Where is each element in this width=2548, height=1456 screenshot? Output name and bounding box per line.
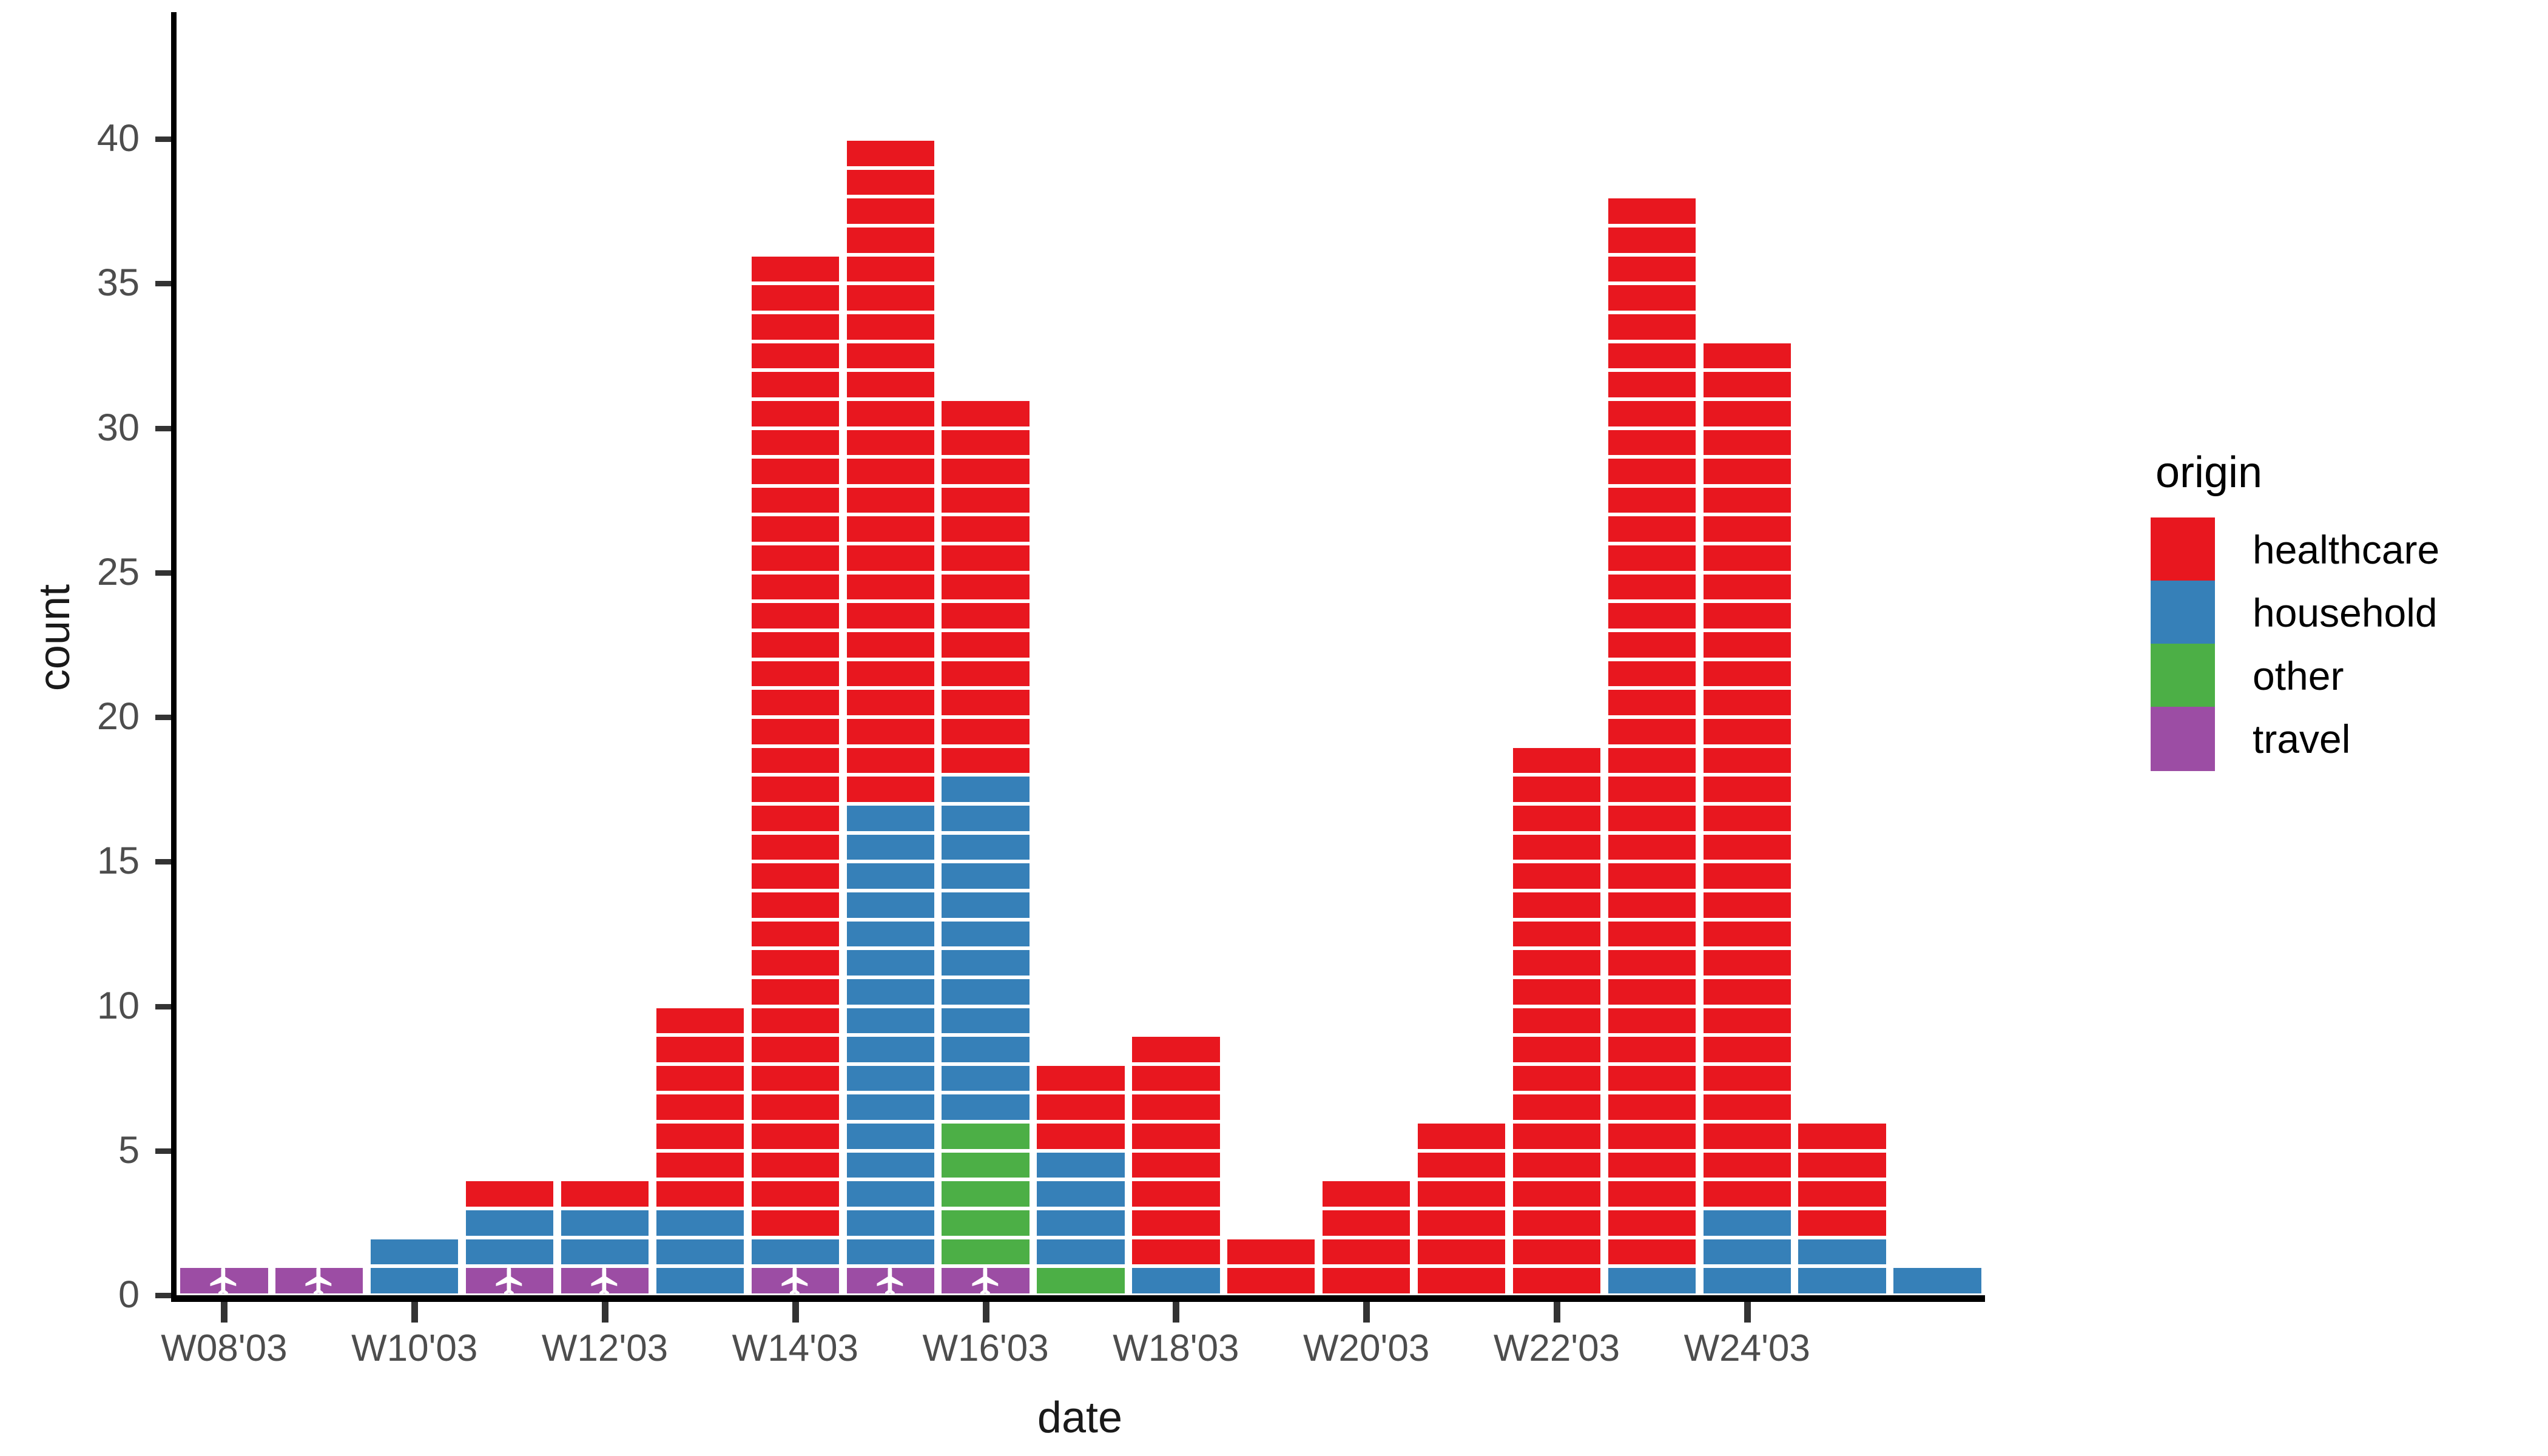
bar-segment-healthcare[interactable] <box>942 661 1029 687</box>
bar-segment-healthcare[interactable] <box>1608 950 1696 976</box>
bar-stack[interactable] <box>1037 1064 1124 1295</box>
bar-segment-healthcare[interactable] <box>752 516 839 542</box>
bar-segment-healthcare[interactable] <box>752 575 839 600</box>
x-tick-label: W24'03 <box>1626 1330 1869 1367</box>
bar-segment-healthcare[interactable] <box>752 459 839 484</box>
bar-segment-household[interactable] <box>942 777 1029 802</box>
bar-segment-healthcare[interactable] <box>752 922 839 947</box>
bar-segment-household[interactable] <box>1037 1239 1124 1265</box>
bar-segment-healthcare[interactable] <box>1323 1181 1410 1207</box>
bar-segment-healthcare[interactable] <box>1418 1153 1505 1178</box>
bar-stack[interactable] <box>1608 197 1696 1295</box>
bar-segment-healthcare[interactable] <box>1704 835 1791 860</box>
bar-segment-healthcare[interactable] <box>847 227 934 253</box>
bar-segment-healthcare[interactable] <box>1704 690 1791 715</box>
bar-segment-healthcare[interactable] <box>752 1124 839 1149</box>
bar-segment-healthcare[interactable] <box>1704 1094 1791 1120</box>
bar-segment-healthcare[interactable] <box>1513 1181 1600 1207</box>
bar-segment-other[interactable] <box>1037 1268 1124 1293</box>
bar-stack[interactable] <box>656 1006 744 1296</box>
bar-segment-healthcare[interactable] <box>1513 1037 1600 1062</box>
bar-segment-healthcare[interactable] <box>1132 1066 1219 1091</box>
bar-segment-household[interactable] <box>847 1181 934 1207</box>
bar-segment-healthcare[interactable] <box>847 632 934 658</box>
bar-segment-healthcare[interactable] <box>942 430 1029 456</box>
bar-segment-healthcare[interactable] <box>1418 1181 1505 1207</box>
bar-segment-healthcare[interactable] <box>1513 1094 1600 1120</box>
bar-segment-healthcare[interactable] <box>656 1124 744 1149</box>
bar-segment-healthcare[interactable] <box>1132 1124 1219 1149</box>
legend-title: origin <box>2151 449 2539 496</box>
bar-segment-healthcare[interactable] <box>752 777 839 802</box>
bar-segment-healthcare[interactable] <box>942 748 1029 773</box>
bar-segment-healthcare[interactable] <box>1227 1268 1315 1293</box>
bar-segment-healthcare[interactable] <box>1608 979 1696 1005</box>
bar-stack[interactable] <box>847 139 934 1295</box>
bar-segment-healthcare[interactable] <box>847 661 934 687</box>
x-axis-title: date <box>898 1393 1262 1443</box>
bar-segment-healthcare[interactable] <box>1513 863 1600 889</box>
bar-segment-household[interactable] <box>371 1268 458 1293</box>
bar-segment-healthcare[interactable] <box>1418 1268 1505 1293</box>
bar-segment-healthcare[interactable] <box>1608 863 1696 889</box>
bar-segment-household[interactable] <box>942 979 1029 1005</box>
bar-segment-healthcare[interactable] <box>1608 257 1696 282</box>
airplane-icon <box>969 1264 1002 1297</box>
bar-segment-healthcare[interactable] <box>1608 430 1696 456</box>
bar-segment-healthcare[interactable] <box>1608 892 1696 918</box>
bar-stack[interactable] <box>561 1179 649 1295</box>
bar-segment-healthcare[interactable] <box>1608 1124 1696 1149</box>
bar-segment-healthcare[interactable] <box>847 719 934 744</box>
bar-segment-household[interactable] <box>1704 1268 1791 1293</box>
bar-segment-healthcare[interactable] <box>847 777 934 802</box>
bar-segment-household[interactable] <box>561 1210 649 1236</box>
bar-segment-household[interactable] <box>847 1210 934 1236</box>
bar-segment-healthcare[interactable] <box>942 603 1029 629</box>
bar-segment-healthcare[interactable] <box>1608 1066 1696 1091</box>
bar-segment-household[interactable] <box>847 835 934 860</box>
bar-segment-healthcare[interactable] <box>752 661 839 687</box>
bar-segment-healthcare[interactable] <box>752 372 839 397</box>
bar-segment-healthcare[interactable] <box>1704 343 1791 369</box>
bar-segment-healthcare[interactable] <box>1608 1008 1696 1034</box>
bar-segment-household[interactable] <box>847 922 934 947</box>
bar-segment-healthcare[interactable] <box>1513 1153 1600 1178</box>
bar-segment-healthcare[interactable] <box>1513 806 1600 831</box>
bar-stack[interactable] <box>752 255 839 1295</box>
bar-segment-healthcare[interactable] <box>1037 1066 1124 1091</box>
bar-segment-travel[interactable] <box>275 1268 363 1293</box>
legend-item-other[interactable]: other <box>2151 644 2539 707</box>
bar-segment-healthcare[interactable] <box>752 603 839 629</box>
bar-segment-household[interactable] <box>1132 1268 1219 1293</box>
bar-segment-household[interactable] <box>656 1239 744 1265</box>
bar-stack[interactable] <box>275 1266 363 1295</box>
bar-segment-healthcare[interactable] <box>1513 835 1600 860</box>
bar-segment-healthcare[interactable] <box>1704 372 1791 397</box>
bar-segment-healthcare[interactable] <box>1513 1124 1600 1149</box>
bar-segment-household[interactable] <box>942 835 1029 860</box>
bar-segment-household[interactable] <box>942 1008 1029 1034</box>
bar-segment-healthcare[interactable] <box>1704 1181 1791 1207</box>
bar-segment-healthcare[interactable] <box>752 1153 839 1178</box>
bar-segment-healthcare[interactable] <box>1513 777 1600 802</box>
bar-segment-healthcare[interactable] <box>1513 950 1600 976</box>
bar-segment-household[interactable] <box>847 1153 934 1178</box>
legend-label: other <box>2253 656 2344 696</box>
bar-stack[interactable] <box>1798 1122 1886 1295</box>
bar-stack[interactable] <box>371 1238 458 1295</box>
bar-segment-healthcare[interactable] <box>847 748 934 773</box>
x-tick-mark <box>602 1302 608 1323</box>
bar-segment-household[interactable] <box>1608 1268 1696 1293</box>
bar-segment-healthcare[interactable] <box>752 719 839 744</box>
airplane-icon <box>874 1264 907 1297</box>
x-tick-mark <box>1173 1302 1179 1323</box>
bar-segment-healthcare[interactable] <box>1704 603 1791 629</box>
bar-segment-healthcare[interactable] <box>1798 1210 1886 1236</box>
bar-segment-healthcare[interactable] <box>1704 1008 1791 1034</box>
bar-stack[interactable] <box>1323 1179 1410 1295</box>
bar-segment-household[interactable] <box>1704 1210 1791 1236</box>
bar-segment-household[interactable] <box>1037 1210 1124 1236</box>
bar-segment-healthcare[interactable] <box>1132 1037 1219 1062</box>
bar-segment-household[interactable] <box>1798 1268 1886 1293</box>
bar-segment-household[interactable] <box>942 950 1029 976</box>
bar-segment-healthcare[interactable] <box>752 285 839 311</box>
bar-segment-healthcare[interactable] <box>752 488 839 513</box>
bar-segment-healthcare[interactable] <box>1704 545 1791 571</box>
bar-segment-travel[interactable] <box>942 1268 1029 1293</box>
bar-segment-healthcare[interactable] <box>1418 1239 1505 1265</box>
bar-segment-healthcare[interactable] <box>656 1181 744 1207</box>
bar-segment-healthcare[interactable] <box>1608 1153 1696 1178</box>
bar-segment-healthcare[interactable] <box>466 1181 553 1207</box>
bar-segment-household[interactable] <box>847 1239 934 1265</box>
bar-segment-healthcare[interactable] <box>847 459 934 484</box>
bar-segment-household[interactable] <box>847 1037 934 1062</box>
bar-segment-healthcare[interactable] <box>1132 1181 1219 1207</box>
bar-segment-healthcare[interactable] <box>1704 979 1791 1005</box>
bar-segment-healthcare[interactable] <box>847 141 934 166</box>
bar-segment-healthcare[interactable] <box>847 257 934 282</box>
bar-segment-healthcare[interactable] <box>1608 661 1696 687</box>
airplane-icon <box>303 1264 335 1297</box>
bar-segment-household[interactable] <box>847 1008 934 1034</box>
bar-segment-healthcare[interactable] <box>752 690 839 715</box>
bar-segment-healthcare[interactable] <box>752 1094 839 1120</box>
bar-segment-healthcare[interactable] <box>752 950 839 976</box>
bar-segment-healthcare[interactable] <box>942 516 1029 542</box>
bar-segment-healthcare[interactable] <box>1608 372 1696 397</box>
bar-segment-healthcare[interactable] <box>656 1153 744 1178</box>
bar-segment-healthcare[interactable] <box>656 1037 744 1062</box>
bar-segment-healthcare[interactable] <box>1704 892 1791 918</box>
x-tick-mark <box>411 1302 418 1323</box>
bar-segment-healthcare[interactable] <box>847 545 934 571</box>
bar-segment-healthcare[interactable] <box>847 343 934 369</box>
bar-segment-healthcare[interactable] <box>847 198 934 224</box>
bar-segment-healthcare[interactable] <box>1704 430 1791 456</box>
bar-segment-healthcare[interactable] <box>752 314 839 340</box>
bar-segment-healthcare[interactable] <box>1513 1268 1600 1293</box>
bar-segment-healthcare[interactable] <box>1513 1210 1600 1236</box>
bar-segment-household[interactable] <box>1893 1268 1981 1293</box>
bar-segment-healthcare[interactable] <box>1513 979 1600 1005</box>
bar-segment-healthcare[interactable] <box>1608 227 1696 253</box>
bar-segment-healthcare[interactable] <box>942 575 1029 600</box>
bar-segment-healthcare[interactable] <box>1608 777 1696 802</box>
bar-segment-healthcare[interactable] <box>1418 1210 1505 1236</box>
x-tick-mark <box>792 1302 799 1323</box>
bar-segment-healthcare[interactable] <box>1513 892 1600 918</box>
bar-segment-healthcare[interactable] <box>942 459 1029 484</box>
bar-segment-healthcare[interactable] <box>1608 516 1696 542</box>
bar-segment-travel[interactable] <box>847 1268 934 1293</box>
bar-segment-other[interactable] <box>942 1210 1029 1236</box>
bar-segment-healthcare[interactable] <box>847 516 934 542</box>
bar-segment-healthcare[interactable] <box>1132 1210 1219 1236</box>
bar-segment-healthcare[interactable] <box>942 719 1029 744</box>
bar-segment-healthcare[interactable] <box>752 1066 839 1091</box>
bar-segment-healthcare[interactable] <box>1608 459 1696 484</box>
bar-segment-household[interactable] <box>752 1239 839 1265</box>
bar-segment-healthcare[interactable] <box>1704 863 1791 889</box>
bar-segment-healthcare[interactable] <box>847 575 934 600</box>
bar-segment-household[interactable] <box>656 1268 744 1293</box>
bar-segment-healthcare[interactable] <box>1798 1124 1886 1149</box>
bar-segment-household[interactable] <box>847 1124 934 1149</box>
bar-segment-household[interactable] <box>942 892 1029 918</box>
bar-segment-healthcare[interactable] <box>1513 748 1600 773</box>
bar-segment-healthcare[interactable] <box>1608 719 1696 744</box>
bar-segment-healthcare[interactable] <box>1608 1037 1696 1062</box>
bar-segment-healthcare[interactable] <box>752 401 839 426</box>
x-axis-line <box>171 1295 1985 1302</box>
bar-stack[interactable] <box>1418 1122 1505 1295</box>
bar-segment-household[interactable] <box>942 1066 1029 1091</box>
bar-segment-healthcare[interactable] <box>847 170 934 195</box>
chart-canvas: 0510152025303540 count W08'03W10'03W12'0… <box>0 0 2548 1456</box>
bar-segment-healthcare[interactable] <box>942 690 1029 715</box>
bar-segment-healthcare[interactable] <box>752 979 839 1005</box>
bar-segment-household[interactable] <box>847 979 934 1005</box>
bar-segment-healthcare[interactable] <box>752 343 839 369</box>
bar-segment-healthcare[interactable] <box>752 632 839 658</box>
bar-segment-household[interactable] <box>942 922 1029 947</box>
bar-segment-healthcare[interactable] <box>656 1008 744 1034</box>
bar-segment-healthcare[interactable] <box>847 603 934 629</box>
bar-segment-household[interactable] <box>847 863 934 889</box>
legend-label: travel <box>2253 719 2350 759</box>
bar-segment-healthcare[interactable] <box>1608 285 1696 311</box>
legend-item-travel[interactable]: travel <box>2151 707 2539 770</box>
bar-segment-healthcare[interactable] <box>1798 1153 1886 1178</box>
bar-segment-healthcare[interactable] <box>1704 1124 1791 1149</box>
bar-segment-travel[interactable] <box>180 1268 268 1293</box>
bar-segment-healthcare[interactable] <box>1608 575 1696 600</box>
bar-segment-household[interactable] <box>847 1066 934 1091</box>
bar-segment-healthcare[interactable] <box>1704 401 1791 426</box>
bar-segment-household[interactable] <box>942 806 1029 831</box>
x-tick-mark <box>221 1302 227 1323</box>
bar-stack[interactable] <box>1132 1035 1219 1295</box>
bar-segment-healthcare[interactable] <box>752 748 839 773</box>
bar-segment-healthcare[interactable] <box>1704 777 1791 802</box>
bar-segment-healthcare[interactable] <box>752 545 839 571</box>
bar-segment-healthcare[interactable] <box>1704 459 1791 484</box>
bar-segment-healthcare[interactable] <box>656 1066 744 1091</box>
bar-segment-household[interactable] <box>656 1210 744 1236</box>
bar-stack[interactable] <box>180 1266 268 1295</box>
bar-segment-healthcare[interactable] <box>1704 1153 1791 1178</box>
bar-segment-healthcare[interactable] <box>1608 314 1696 340</box>
bar-segment-other[interactable] <box>942 1124 1029 1149</box>
bar-segment-healthcare[interactable] <box>1608 806 1696 831</box>
bar-segment-healthcare[interactable] <box>1513 1008 1600 1034</box>
bar-segment-healthcare[interactable] <box>752 1181 839 1207</box>
bar-segment-household[interactable] <box>1037 1153 1124 1178</box>
bar-segment-healthcare[interactable] <box>752 1037 839 1062</box>
bar-segment-healthcare[interactable] <box>1704 950 1791 976</box>
legend-item-household[interactable]: household <box>2151 581 2539 644</box>
bar-segment-healthcare[interactable] <box>561 1181 649 1207</box>
bar-segment-healthcare[interactable] <box>1608 1181 1696 1207</box>
bar-segment-healthcare[interactable] <box>752 430 839 456</box>
bar-segment-other[interactable] <box>942 1153 1029 1178</box>
bar-segment-healthcare[interactable] <box>1132 1094 1219 1120</box>
bar-segment-healthcare[interactable] <box>1798 1181 1886 1207</box>
bar-segment-healthcare[interactable] <box>1608 632 1696 658</box>
bar-segment-healthcare[interactable] <box>1132 1239 1219 1265</box>
bar-segment-healthcare[interactable] <box>1037 1124 1124 1149</box>
bar-stack[interactable] <box>1513 746 1600 1295</box>
bar-segment-travel[interactable] <box>466 1268 553 1293</box>
bar-segment-healthcare[interactable] <box>752 1008 839 1034</box>
bar-segment-healthcare[interactable] <box>942 401 1029 426</box>
bar-segment-healthcare[interactable] <box>1608 198 1696 224</box>
bar-segment-travel[interactable] <box>752 1268 839 1293</box>
bar-segment-healthcare[interactable] <box>847 488 934 513</box>
bar-segment-healthcare[interactable] <box>1608 603 1696 629</box>
bar-stack[interactable] <box>466 1179 553 1295</box>
x-tick-mark <box>1744 1302 1751 1323</box>
bar-segment-healthcare[interactable] <box>1608 1239 1696 1265</box>
bar-segment-healthcare[interactable] <box>847 690 934 715</box>
bar-segment-household[interactable] <box>847 950 934 976</box>
bar-segment-other[interactable] <box>942 1239 1029 1265</box>
legend-item-healthcare[interactable]: healthcare <box>2151 518 2539 581</box>
bar-segment-household[interactable] <box>1704 1239 1791 1265</box>
bar-segment-healthcare[interactable] <box>752 806 839 831</box>
bar-segment-household[interactable] <box>371 1239 458 1265</box>
bar-segment-healthcare[interactable] <box>1704 488 1791 513</box>
bar-segment-healthcare[interactable] <box>1227 1239 1315 1265</box>
bar-segment-healthcare[interactable] <box>1323 1268 1410 1293</box>
bar-segment-healthcare[interactable] <box>1704 719 1791 744</box>
x-tick-mark <box>1363 1302 1370 1323</box>
bar-segment-household[interactable] <box>1798 1239 1886 1265</box>
bar-segment-healthcare[interactable] <box>1704 661 1791 687</box>
bar-segment-healthcare[interactable] <box>1132 1153 1219 1178</box>
bar-segment-healthcare[interactable] <box>1704 748 1791 773</box>
bar-segment-healthcare[interactable] <box>1608 748 1696 773</box>
bar-segment-healthcare[interactable] <box>942 488 1029 513</box>
bar-segment-healthcare[interactable] <box>1608 343 1696 369</box>
bar-segment-healthcare[interactable] <box>1704 806 1791 831</box>
bar-segment-household[interactable] <box>561 1239 649 1265</box>
bar-segment-healthcare[interactable] <box>847 372 934 397</box>
bar-segment-other[interactable] <box>942 1181 1029 1207</box>
bar-segment-healthcare[interactable] <box>1704 575 1791 600</box>
bar-segment-healthcare[interactable] <box>847 285 934 311</box>
bar-segment-healthcare[interactable] <box>847 401 934 426</box>
bar-segment-healthcare[interactable] <box>1323 1239 1410 1265</box>
bar-segment-household[interactable] <box>466 1210 553 1236</box>
legend-swatch-other <box>2151 644 2215 708</box>
bar-segment-household[interactable] <box>847 1094 934 1120</box>
bar-segment-healthcare[interactable] <box>942 632 1029 658</box>
bar-segment-household[interactable] <box>942 1037 1029 1062</box>
bar-segment-household[interactable] <box>847 892 934 918</box>
bar-segment-healthcare[interactable] <box>1608 922 1696 947</box>
bar-segment-household[interactable] <box>942 1094 1029 1120</box>
bar-segment-healthcare[interactable] <box>1704 632 1791 658</box>
bar-segment-household[interactable] <box>847 806 934 831</box>
bar-segment-healthcare[interactable] <box>752 1210 839 1236</box>
legend-label: household <box>2253 593 2438 633</box>
bar-segment-healthcare[interactable] <box>1418 1124 1505 1149</box>
bar-segment-travel[interactable] <box>561 1268 649 1293</box>
bar-segment-healthcare[interactable] <box>1608 401 1696 426</box>
bar-segment-healthcare[interactable] <box>1704 1037 1791 1062</box>
bar-segment-healthcare[interactable] <box>1608 488 1696 513</box>
bar-segment-healthcare[interactable] <box>752 257 839 282</box>
bar-stack[interactable] <box>942 399 1029 1295</box>
bar-segment-healthcare[interactable] <box>1704 1066 1791 1091</box>
bar-segment-healthcare[interactable] <box>1608 690 1696 715</box>
bar-stack[interactable] <box>1704 342 1791 1295</box>
bar-segment-healthcare[interactable] <box>752 863 839 889</box>
x-tick-mark <box>1554 1302 1560 1323</box>
bar-segment-healthcare[interactable] <box>1037 1094 1124 1120</box>
bar-segment-household[interactable] <box>942 863 1029 889</box>
bar-segment-healthcare[interactable] <box>1608 1210 1696 1236</box>
airplane-icon <box>779 1264 812 1297</box>
bar-segment-healthcare[interactable] <box>847 314 934 340</box>
bar-segment-healthcare[interactable] <box>847 430 934 456</box>
bar-stack[interactable] <box>1227 1238 1315 1295</box>
bar-segment-healthcare[interactable] <box>1513 1066 1600 1091</box>
bar-stack[interactable] <box>1893 1266 1981 1295</box>
bar-segment-healthcare[interactable] <box>942 545 1029 571</box>
bar-segment-healthcare[interactable] <box>752 892 839 918</box>
bar-segment-healthcare[interactable] <box>1608 545 1696 571</box>
bar-segment-healthcare[interactable] <box>1704 516 1791 542</box>
bar-segment-healthcare[interactable] <box>1608 835 1696 860</box>
bar-segment-healthcare[interactable] <box>1513 922 1600 947</box>
bar-segment-healthcare[interactable] <box>1704 922 1791 947</box>
bar-segment-healthcare[interactable] <box>656 1094 744 1120</box>
bar-segment-household[interactable] <box>466 1239 553 1265</box>
bar-segment-healthcare[interactable] <box>1323 1210 1410 1236</box>
bar-segment-healthcare[interactable] <box>1513 1239 1600 1265</box>
bar-segment-healthcare[interactable] <box>1608 1094 1696 1120</box>
bar-segment-healthcare[interactable] <box>752 835 839 860</box>
legend-swatch-household <box>2151 581 2215 645</box>
bar-segment-household[interactable] <box>1037 1181 1124 1207</box>
